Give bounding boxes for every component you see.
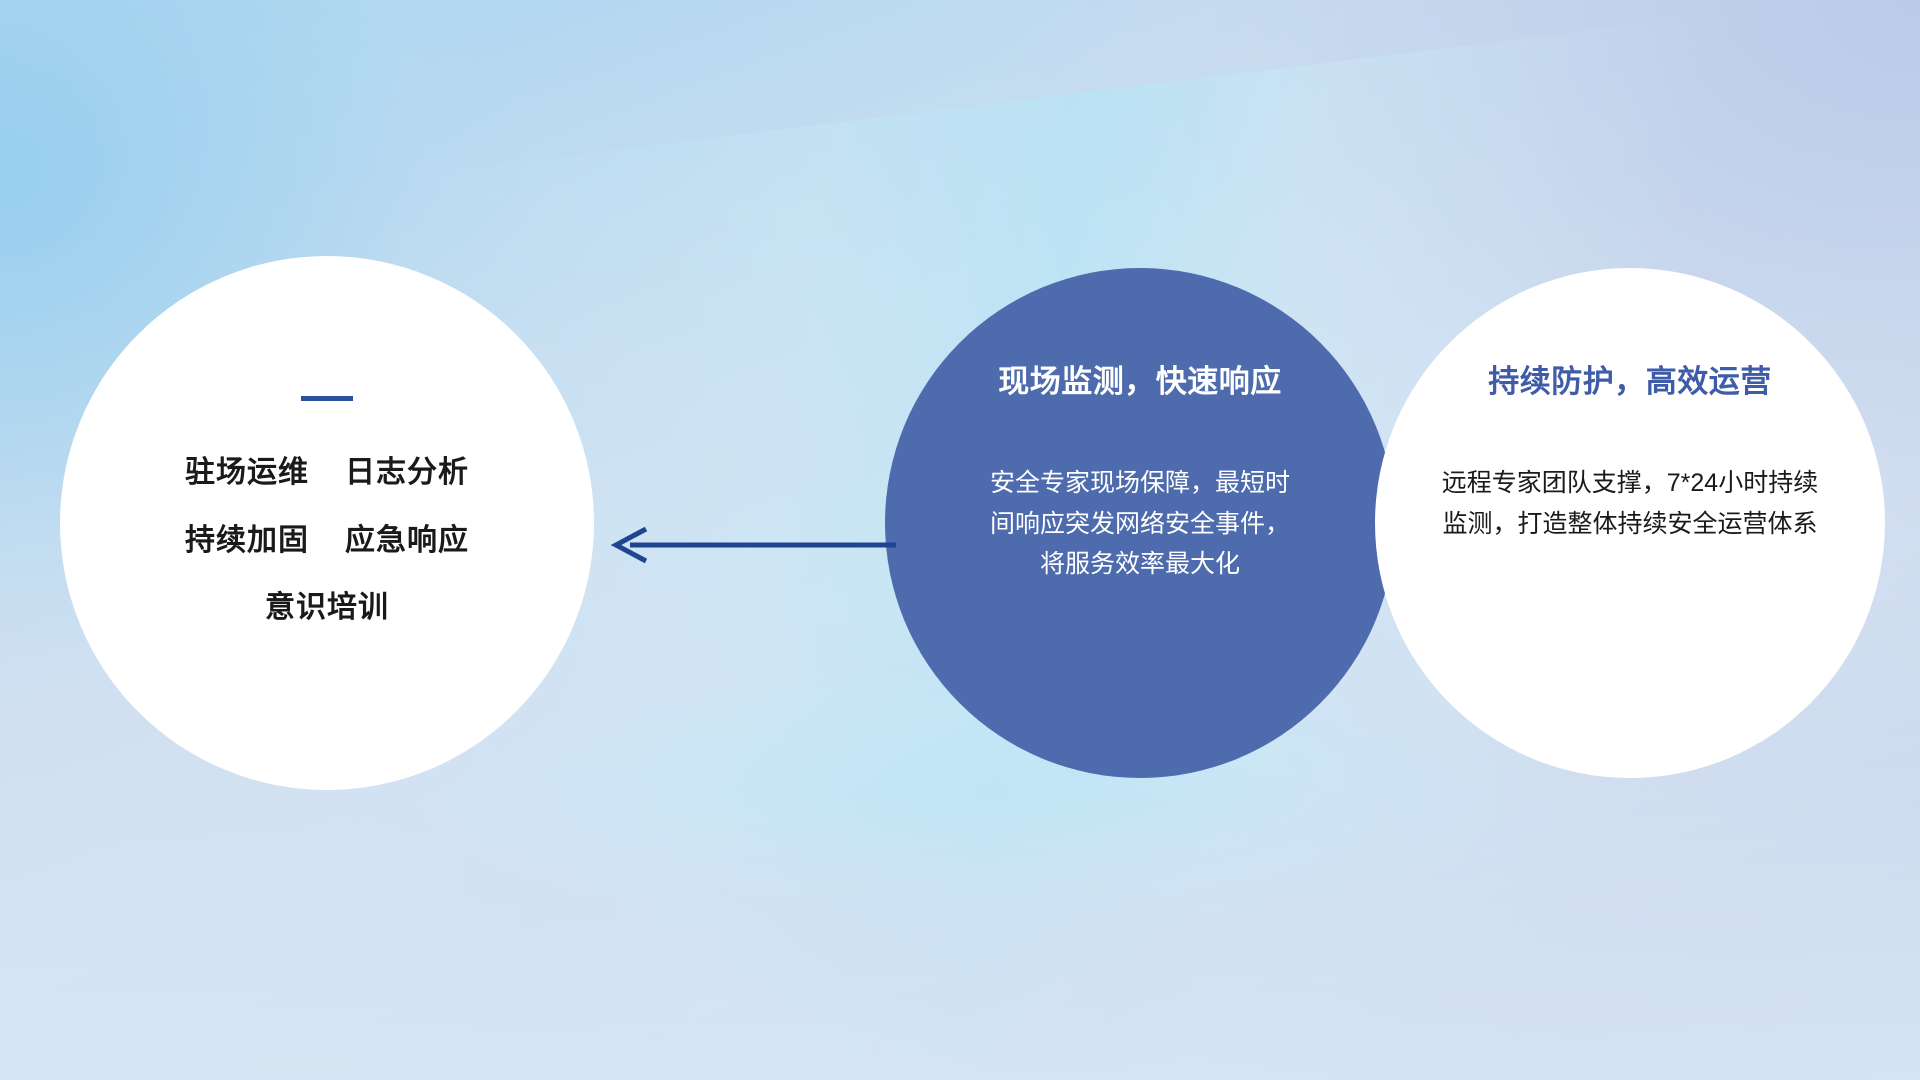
continuous-operations-content: 持续防护，高效运营 远程专家团队支撑，7*24小时持续监测，打造整体持续安全运营… bbox=[1375, 268, 1885, 778]
capability-row: 意识培训 bbox=[265, 592, 389, 624]
capability-tag[interactable]: 日志分析 bbox=[345, 457, 469, 489]
onsite-monitoring-content: 现场监测，快速响应 安全专家现场保障，最短时间响应突发网络安全事件，将服务效率最… bbox=[885, 268, 1395, 778]
arrow-left-icon bbox=[600, 515, 900, 575]
capability-tag[interactable]: 意识培训 bbox=[265, 592, 389, 624]
onsite-monitoring-title: 现场监测，快速响应 bbox=[998, 356, 1282, 401]
connector-arrow-left bbox=[600, 515, 900, 575]
capability-tag[interactable]: 驻场运维 bbox=[185, 457, 309, 489]
title-divider-dash bbox=[301, 396, 353, 401]
continuous-operations-title: 持续防护，高效运营 bbox=[1488, 356, 1772, 401]
capability-row: 驻场运维 日志分析 bbox=[185, 457, 469, 489]
capability-row: 持续加固 应急响应 bbox=[185, 525, 469, 557]
slide-canvas: 驻场运维 日志分析 持续加固 应急响应 意识培训 现场监测，快速响应 安全专家现… bbox=[0, 0, 1920, 1080]
capability-tag[interactable]: 应急响应 bbox=[345, 525, 469, 557]
continuous-operations-body: 远程专家团队支撑，7*24小时持续监测，打造整体持续安全运营体系 bbox=[1430, 463, 1830, 544]
capability-tag[interactable]: 持续加固 bbox=[185, 525, 309, 557]
capabilities-content: 驻场运维 日志分析 持续加固 应急响应 意识培训 bbox=[60, 256, 594, 790]
onsite-monitoring-body: 安全专家现场保障，最短时间响应突发网络安全事件，将服务效率最大化 bbox=[980, 463, 1300, 585]
